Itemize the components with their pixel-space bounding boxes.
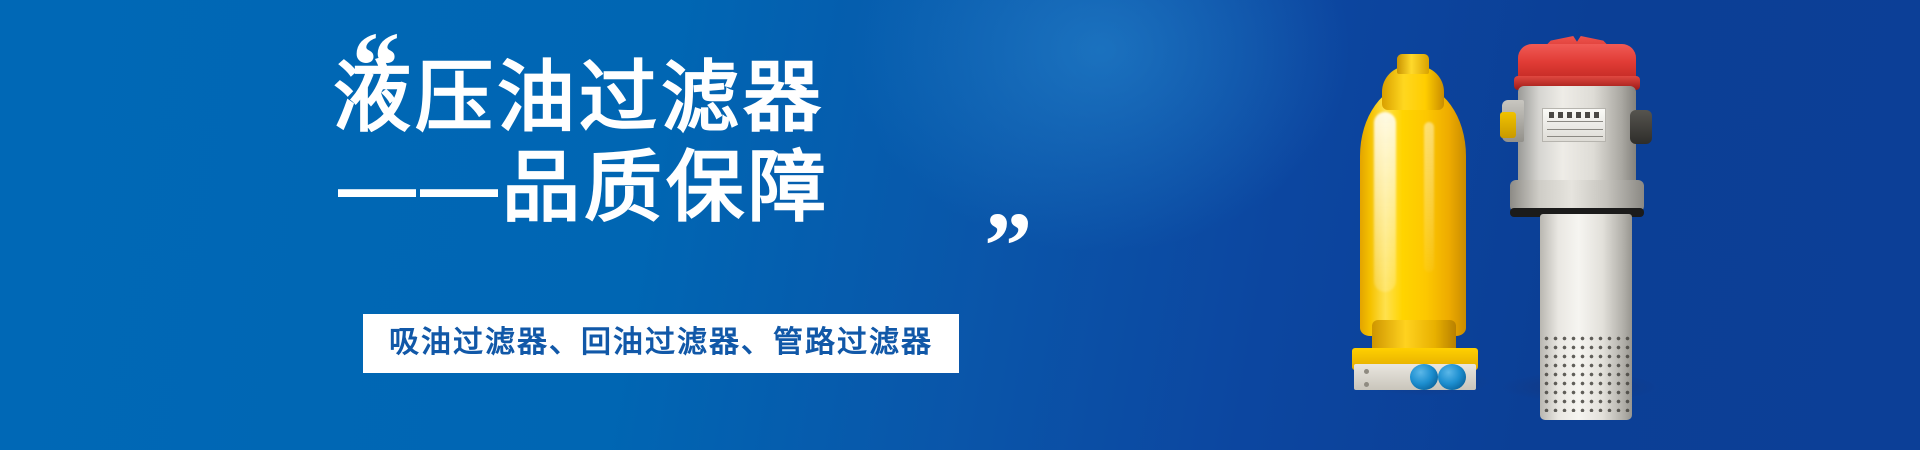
promo-banner: “ 液压油过滤器 ——品质保障 „ 吸油过滤器、回油过滤器、管路过滤器 <box>0 0 1920 450</box>
nameplate-line <box>1547 121 1603 122</box>
yellow-filter-highlight-secondary <box>1424 122 1434 272</box>
title-line-2: ——品质保障 <box>0 142 1030 232</box>
subtitle-text: 吸油过滤器、回油过滤器、管路过滤器 <box>389 326 933 359</box>
nameplate-line <box>1547 136 1603 137</box>
title-line-1: 液压油过滤器 <box>0 52 1030 142</box>
yellow-filter-highlight <box>1374 112 1396 292</box>
mount-hole-icon <box>1364 382 1369 387</box>
headline-block: “ 液压油过滤器 ——品质保障 „ 吸油过滤器、回油过滤器、管路过滤器 <box>0 0 1060 450</box>
grey-filter-knob <box>1630 110 1652 144</box>
nameplate-line <box>1547 129 1603 130</box>
yellow-filter-cap <box>1397 54 1429 74</box>
closing-quote-icon: „ <box>985 148 1033 244</box>
page-title: 液压油过滤器 ——品质保障 <box>0 52 1030 233</box>
mount-hole-icon <box>1364 369 1369 374</box>
subtitle-badge: 吸油过滤器、回油过滤器、管路过滤器 <box>363 314 959 373</box>
grey-filter-nameplate <box>1542 108 1606 142</box>
product-image-yellow-line-filter <box>1352 52 1478 382</box>
grey-filter-perforations <box>1542 334 1630 412</box>
grey-filter-yellow-stub <box>1500 112 1516 138</box>
product-image-grey-return-filter <box>1488 34 1668 424</box>
nameplate-title-marks <box>1549 112 1601 118</box>
yellow-filter-port <box>1438 364 1466 390</box>
yellow-filter-port <box>1410 364 1438 390</box>
product-stage <box>1060 0 1920 450</box>
